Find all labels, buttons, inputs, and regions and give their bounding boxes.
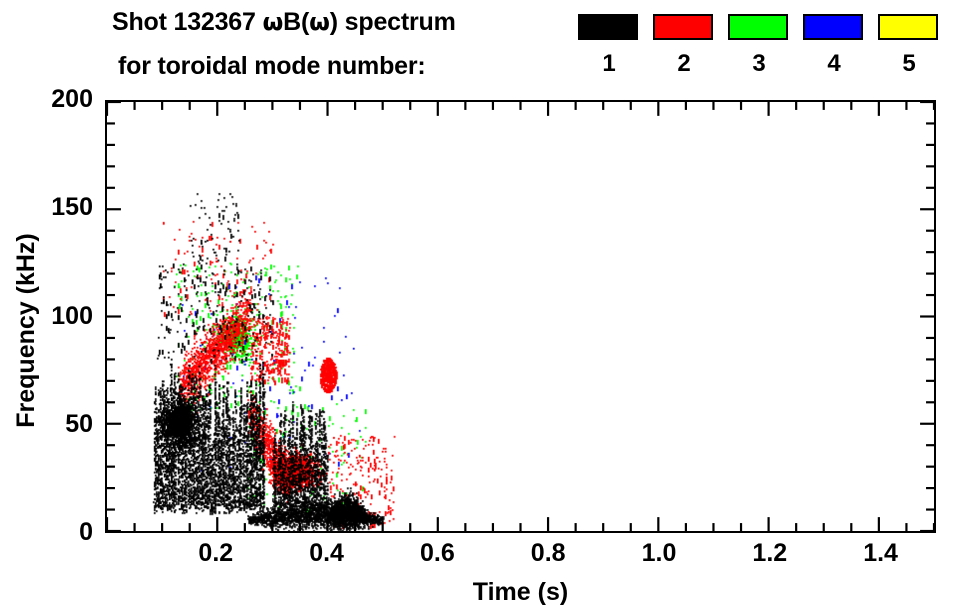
omega-symbol-2: ω bbox=[309, 8, 330, 36]
y-tick-label-200: 200 bbox=[51, 87, 93, 112]
legend-label-5: 5 bbox=[878, 52, 940, 76]
legend-swatch-5 bbox=[878, 14, 938, 40]
legend-swatch-2 bbox=[653, 14, 713, 40]
legend-swatch-4 bbox=[803, 14, 863, 40]
x-tick-label-1.2: 1.2 bbox=[752, 541, 787, 566]
chart-title-line-2: for toroidal mode number: bbox=[118, 52, 426, 81]
spectrogram-scatter-canvas bbox=[107, 102, 934, 531]
y-tick-label-100: 100 bbox=[51, 304, 93, 329]
x-tick-label-1.0: 1.0 bbox=[642, 541, 677, 566]
legend-swatch-1 bbox=[578, 14, 638, 40]
y-tick-label-0: 0 bbox=[79, 520, 93, 545]
title-text-prefix: Shot 132367 bbox=[112, 8, 262, 36]
y-tick-label-50: 50 bbox=[65, 412, 93, 437]
legend-item-5: 5 bbox=[878, 14, 940, 76]
legend-label-2: 2 bbox=[653, 52, 715, 76]
x-axis-tick-labels: 0.20.40.60.81.01.21.4 bbox=[105, 541, 936, 573]
x-axis-label: Time (s) bbox=[105, 578, 936, 607]
chart-title-line-1: Shot 132367 ωB(ω) spectrum bbox=[112, 8, 456, 37]
y-tick-label-150: 150 bbox=[51, 195, 93, 220]
x-tick-label-0.4: 0.4 bbox=[309, 541, 344, 566]
legend-label-3: 3 bbox=[728, 52, 790, 76]
legend-label-4: 4 bbox=[803, 52, 865, 76]
y-axis-label-wrapper: Frequency (kHz) bbox=[12, 114, 41, 547]
plot-area bbox=[105, 100, 936, 533]
title-text-mid: B( bbox=[283, 8, 309, 36]
y-axis-label: Frequency (kHz) bbox=[12, 233, 40, 427]
x-tick-label-1.4: 1.4 bbox=[863, 541, 898, 566]
x-tick-label-0.8: 0.8 bbox=[531, 541, 566, 566]
x-tick-label-0.6: 0.6 bbox=[420, 541, 455, 566]
legend-label-1: 1 bbox=[578, 52, 640, 76]
legend-item-3: 3 bbox=[728, 14, 790, 76]
omega-symbol-1: ω bbox=[262, 8, 283, 36]
legend-item-4: 4 bbox=[803, 14, 865, 76]
legend-swatch-3 bbox=[728, 14, 788, 40]
x-tick-label-0.2: 0.2 bbox=[198, 541, 233, 566]
spectrogram-figure: Shot 132367 ωB(ω) spectrum for toroidal … bbox=[0, 0, 963, 615]
title-text-suffix: ) spectrum bbox=[330, 8, 456, 36]
legend-item-2: 2 bbox=[653, 14, 715, 76]
legend-item-1: 1 bbox=[578, 14, 640, 76]
legend: 12345 bbox=[578, 14, 950, 90]
